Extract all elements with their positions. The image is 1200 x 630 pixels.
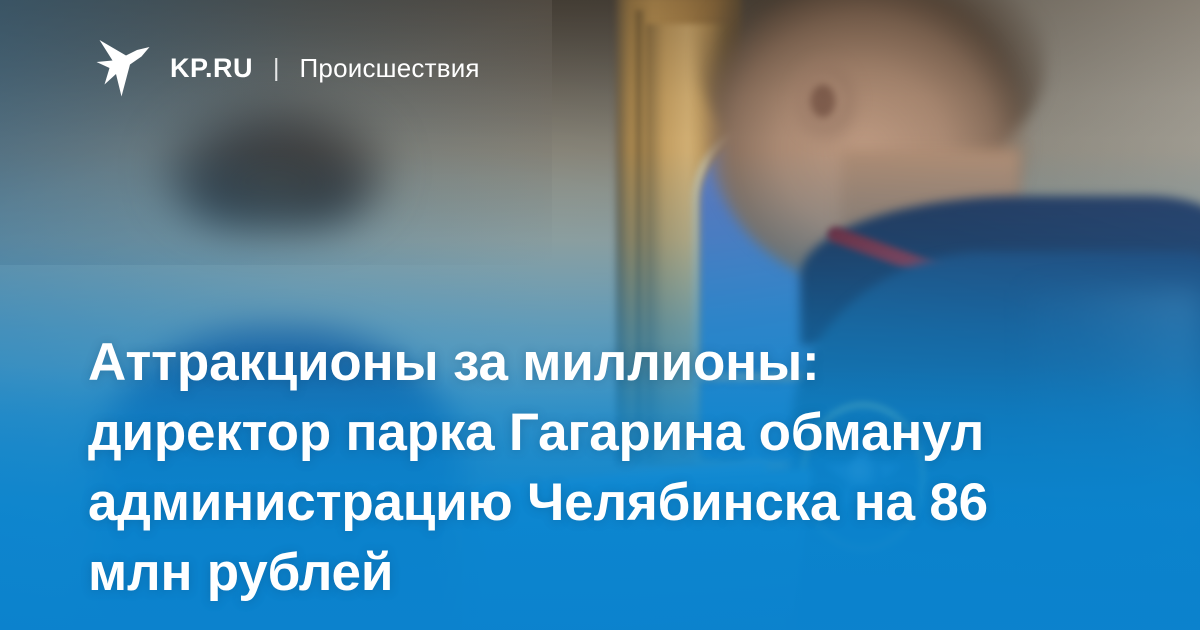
header-separator: | [271,56,282,81]
brand-name[interactable]: KP.RU [170,55,253,82]
headline-line-3: администрацию Челябинска на 86 [88,468,1098,538]
headline: Аттракционы за миллионы: директор парка … [88,328,1098,608]
kp-ru-share-card: KP.RU | Происшествия Аттракционы за милл… [0,0,1200,630]
headline-line-2: директор парка Гагарина обманул [88,398,1098,468]
rubric-label[interactable]: Происшествия [300,55,480,81]
site-header: KP.RU | Происшествия [96,38,480,98]
headline-line-4: млн рублей [88,538,1098,608]
headline-line-1: Аттракционы за миллионы: [88,328,1098,398]
kp-swallow-logo-icon[interactable] [96,38,152,98]
